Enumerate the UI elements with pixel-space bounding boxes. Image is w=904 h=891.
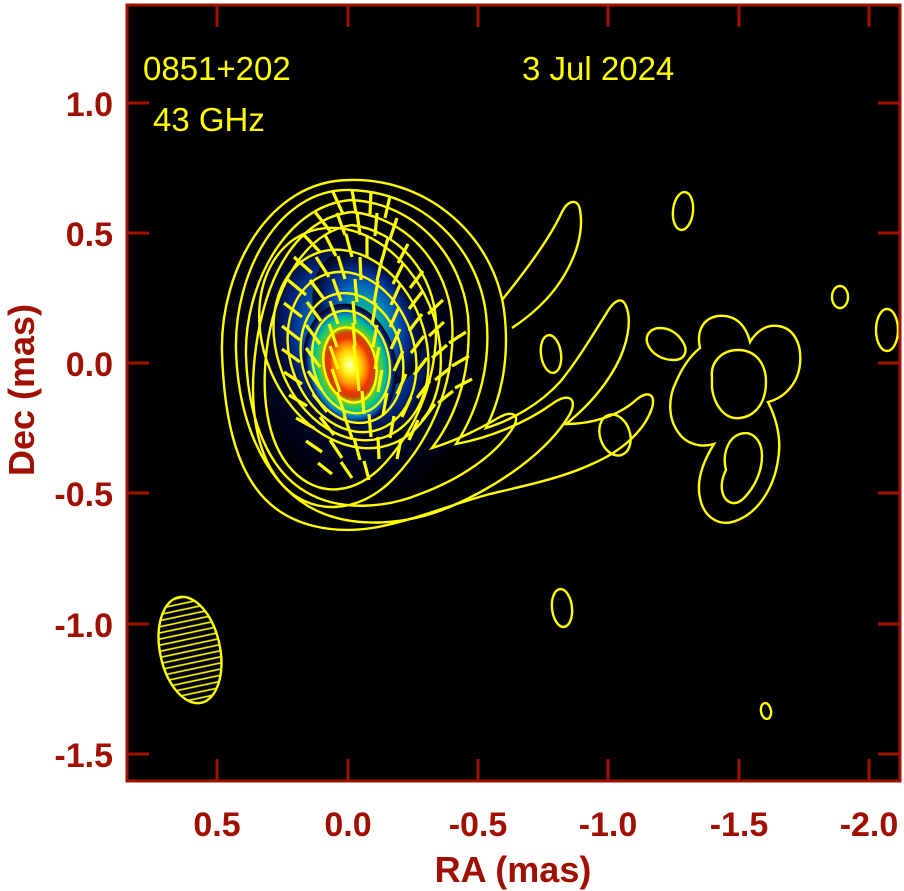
epoch-label: 3 Jul 2024: [522, 50, 674, 87]
evpa-tick: [375, 213, 377, 236]
evpa-tick: [357, 368, 359, 391]
y-tick-label-5: -1.0: [54, 607, 113, 645]
radio-map-figure: 0851+202 43 GHz 3 Jul 2024 1.0 0.5 0.0 -…: [0, 0, 904, 891]
evpa-tick: [370, 191, 371, 214]
evpa-tick: [355, 279, 357, 302]
y-tick-label-2: 0.5: [66, 216, 113, 254]
evpa-tick: [378, 437, 379, 459]
x-tick-label-2: 0.0: [324, 806, 371, 844]
frequency-label: 43 GHz: [153, 101, 265, 138]
evpa-tick: [354, 345, 356, 368]
x-axis-title: RA (mas): [435, 849, 592, 890]
y-axis-title: Dec (mas): [1, 304, 42, 476]
x-tick-label-1: 0.5: [193, 806, 240, 844]
x-tick-label-3: -0.5: [449, 806, 508, 844]
y-tick-label-1: 1.0: [66, 86, 113, 124]
y-tick-label-3: 0.0: [66, 346, 113, 384]
x-tick-label-5: -1.5: [710, 806, 769, 844]
evpa-tick: [369, 414, 371, 437]
evpa-tick: [353, 323, 355, 346]
y-tick-label-4: -0.5: [54, 476, 113, 514]
x-tick-label-6: -2.0: [840, 806, 899, 844]
vlbi-map-svg: 0851+202 43 GHz 3 Jul 2024 1.0 0.5 0.0 -…: [0, 0, 904, 891]
y-tick-label-6: -1.5: [54, 737, 113, 775]
x-tick-label-4: -1.0: [579, 806, 638, 844]
source-name-label: 0851+202: [143, 50, 291, 87]
evpa-tick: [362, 391, 364, 414]
evpa-tick: [353, 301, 355, 324]
evpa-tick: [360, 257, 361, 280]
